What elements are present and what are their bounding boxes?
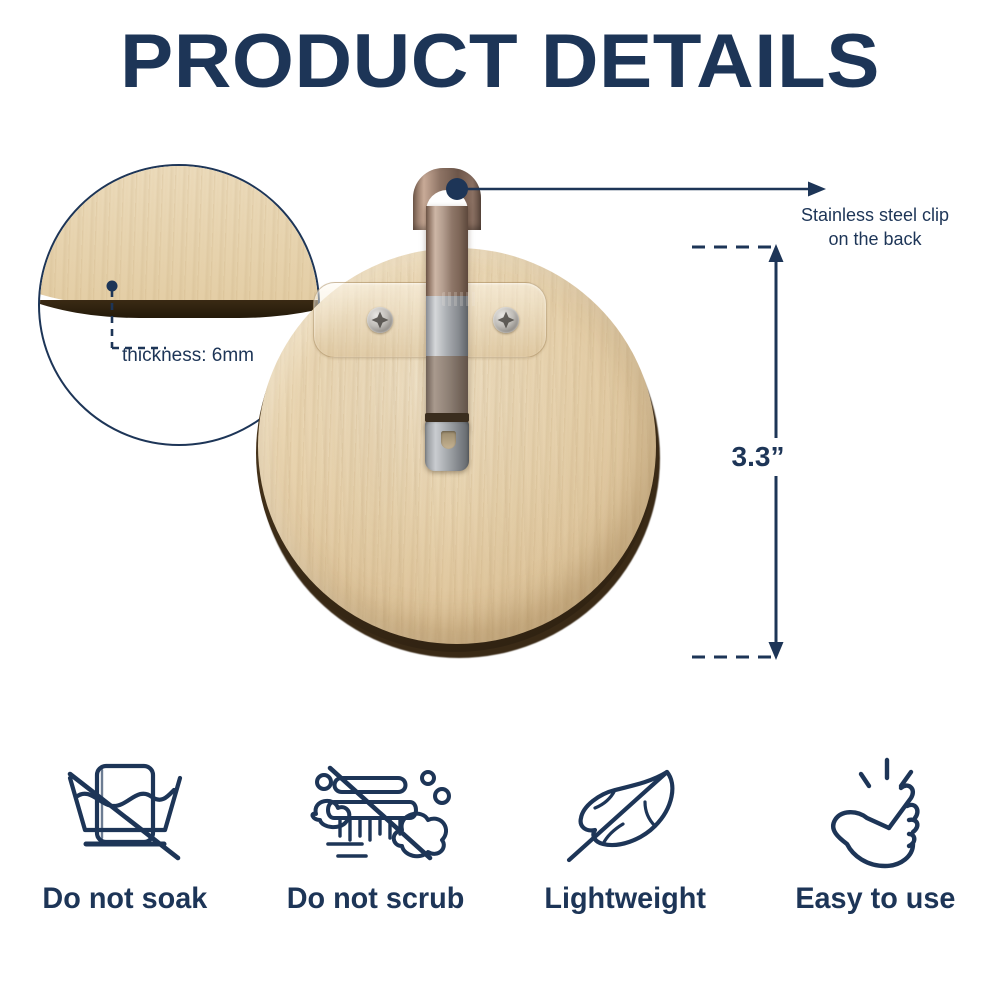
infographic-canvas: PRODUCT DETAILS thickness: 6mm (0, 0, 1000, 1000)
no-scrub-icon (290, 752, 460, 872)
feature-row: Do not soak (0, 752, 1000, 916)
feature-item: Easy to use (750, 752, 1000, 916)
phillips-screw-icon (367, 307, 393, 333)
feature-label: Do not scrub (286, 882, 464, 916)
feature-label: Lightweight (544, 882, 706, 916)
clip-bottom-tip (425, 419, 469, 471)
tap-hand-icon (805, 752, 945, 872)
callout-dot-icon (446, 178, 468, 200)
thickness-label: thickness: 6mm (122, 345, 254, 367)
feature-item: Do not soak (0, 752, 250, 916)
clip-notch (441, 431, 456, 449)
feature-label: Do not soak (43, 882, 208, 916)
phillips-screw-icon (493, 307, 519, 333)
product-image (248, 168, 678, 668)
feature-label: Easy to use (795, 882, 955, 916)
no-soak-icon (50, 752, 200, 872)
clip-embossing (442, 292, 478, 306)
feature-item: Do not scrub (250, 752, 500, 916)
dimension-label: 3.3” (700, 438, 816, 476)
stainless-steel-clip (413, 168, 481, 478)
feature-item: Lightweight (500, 752, 750, 916)
feather-icon (555, 752, 695, 872)
clip-body (426, 206, 468, 431)
arrow-right-icon (808, 182, 826, 197)
callout-line-1: Stainless steel clip (760, 203, 990, 227)
page-title: PRODUCT DETAILS (0, 22, 1000, 102)
